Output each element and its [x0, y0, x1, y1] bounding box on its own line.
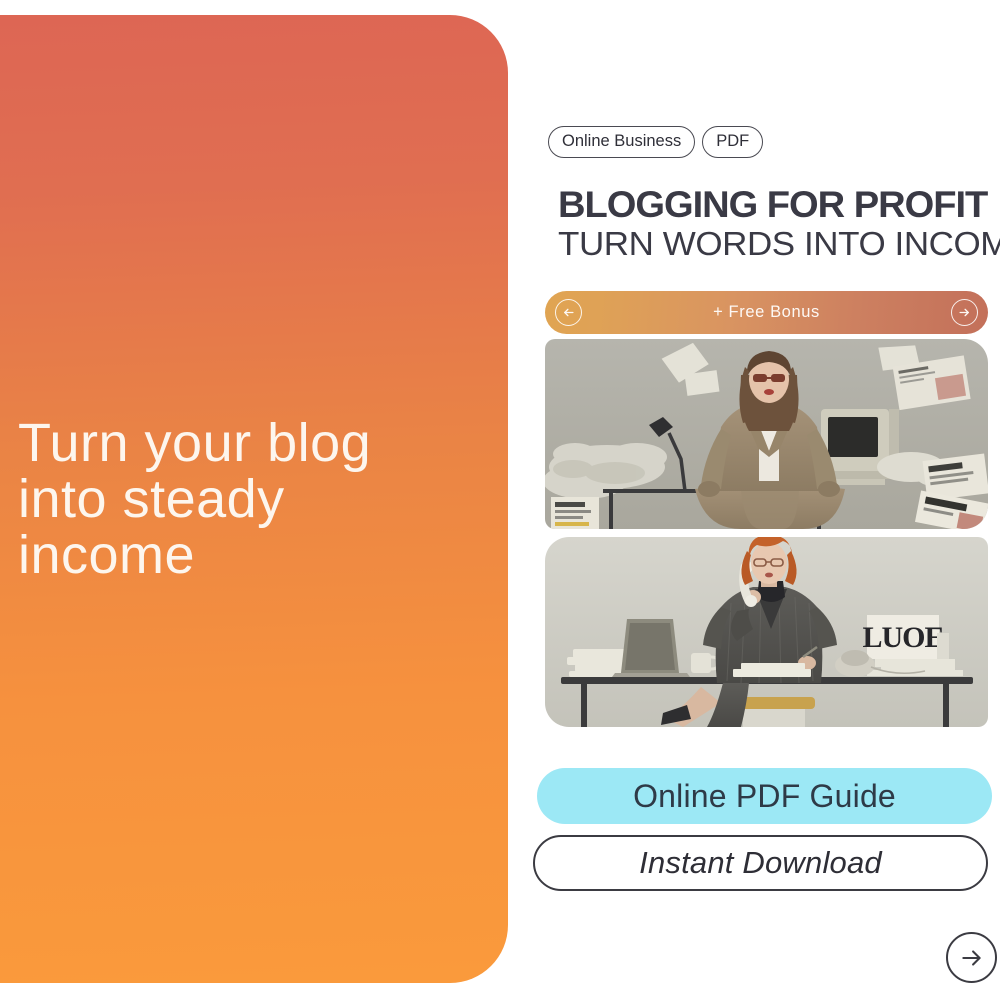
promo-panel: Turn your blog into steady income [0, 15, 508, 983]
free-bonus-label: + Free Bonus [582, 303, 951, 322]
photo-blogger-desk-illustration [545, 339, 988, 529]
arrow-right-icon[interactable] [946, 932, 997, 983]
photo-card-phone-desk[interactable]: LUOE [545, 537, 988, 727]
page-title-line1: BLOGGING FOR PROFIT [558, 184, 1000, 226]
content-column: Online Business PDF BLOGGING FOR PROFIT … [535, 0, 1000, 1000]
arrow-right-circle-icon[interactable] [951, 299, 978, 326]
page-title-line2: TURN WORDS INTO INCOME [558, 226, 1000, 262]
page-title: BLOGGING FOR PROFIT TURN WORDS INTO INCO… [558, 184, 998, 262]
promo-headline: Turn your blog into steady income [18, 415, 448, 583]
tag-online-business[interactable]: Online Business [548, 126, 695, 158]
free-bonus-banner: + Free Bonus [545, 291, 988, 334]
arrow-left-circle-icon[interactable] [555, 299, 582, 326]
tag-pdf[interactable]: PDF [702, 126, 763, 158]
online-pdf-guide-button[interactable]: Online PDF Guide [537, 768, 992, 824]
photo-card-blogger-desk[interactable] [545, 339, 988, 529]
tag-row: Online Business PDF [548, 126, 763, 158]
instant-download-button[interactable]: Instant Download [533, 835, 988, 891]
svg-text:LUOE: LUOE [862, 621, 943, 654]
photo-phone-desk-illustration: LUOE [545, 537, 988, 727]
